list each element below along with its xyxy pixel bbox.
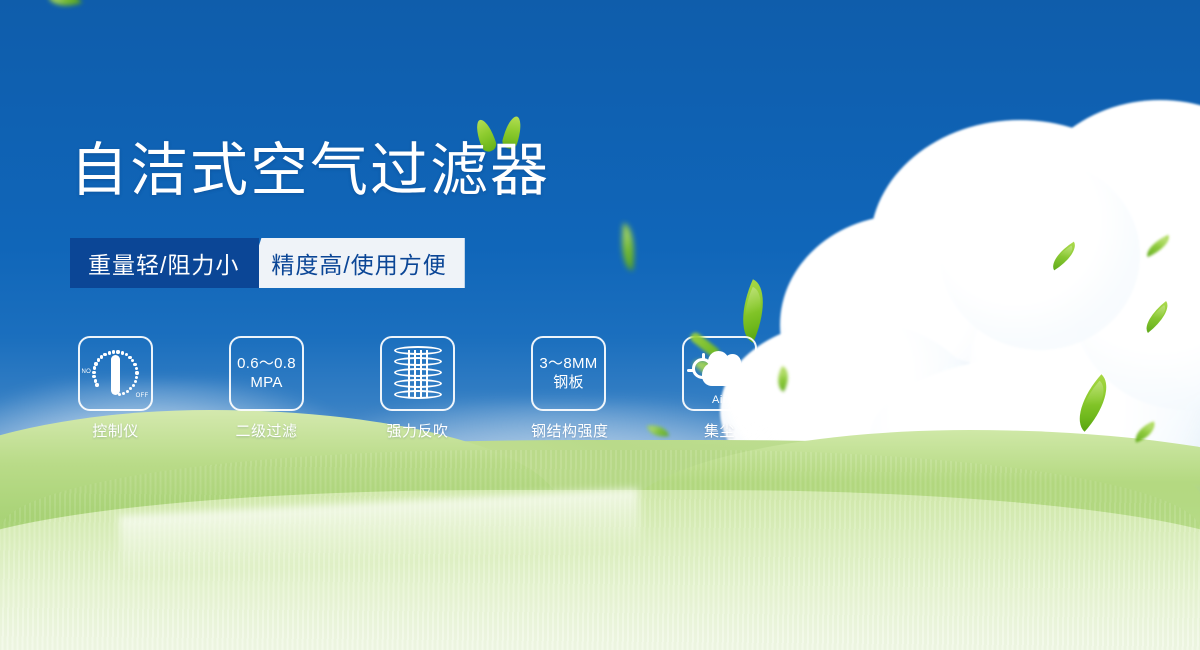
feature-label: 控制仪 bbox=[78, 420, 153, 441]
product-banner: 自洁式空气过滤器 重量轻/阻力小 精度高/使用方便 NO OFF 控制仪 0.6… bbox=[0, 0, 1200, 650]
pressure-text-icon: 0.6～0.8 MPA bbox=[237, 355, 296, 392]
feature-icon-row: NO OFF 控制仪 0.6～0.8 MPA 二级过滤 bbox=[78, 336, 757, 441]
gauge-on-label: NO bbox=[82, 369, 92, 375]
air-label: Air bbox=[690, 394, 750, 406]
filter-coil-icon bbox=[394, 346, 442, 402]
feature-label: 集尘 bbox=[682, 420, 757, 441]
feature-item-two-stage-filter[interactable]: 0.6～0.8 MPA 二级过滤 bbox=[229, 336, 304, 441]
feature-icon-box: Air bbox=[682, 336, 757, 411]
subtitle-segment-right: 精度高/使用方便 bbox=[245, 238, 464, 288]
feature-label: 钢结构强度 bbox=[531, 420, 606, 441]
cloud-icon bbox=[702, 362, 748, 386]
gauge-off-label: OFF bbox=[136, 393, 149, 399]
subtitle-segment-left: 重量轻/阻力小 bbox=[70, 238, 259, 288]
feature-item-strong-blowback[interactable]: 强力反吹 bbox=[380, 336, 455, 441]
cloud-air-icon: Air bbox=[690, 346, 750, 402]
feature-label: 二级过滤 bbox=[229, 420, 304, 441]
feature-item-dust-collection[interactable]: Air 集尘 bbox=[682, 336, 757, 441]
feature-item-controller[interactable]: NO OFF 控制仪 bbox=[78, 336, 153, 441]
subtitle-bar: 重量轻/阻力小 精度高/使用方便 bbox=[70, 238, 465, 288]
gauge-dial-icon: NO OFF bbox=[85, 343, 147, 405]
steel-plate-text-icon: 3～8MM 钢板 bbox=[539, 355, 597, 392]
feature-icon-box bbox=[380, 336, 455, 411]
feature-item-steel-strength[interactable]: 3～8MM 钢板 钢结构强度 bbox=[531, 336, 606, 441]
page-title: 自洁式空气过滤器 bbox=[70, 142, 550, 200]
feature-icon-box: 3～8MM 钢板 bbox=[531, 336, 606, 411]
feature-icon-box: 0.6～0.8 MPA bbox=[229, 336, 304, 411]
feature-icon-box: NO OFF bbox=[78, 336, 153, 411]
feature-label: 强力反吹 bbox=[380, 420, 455, 441]
